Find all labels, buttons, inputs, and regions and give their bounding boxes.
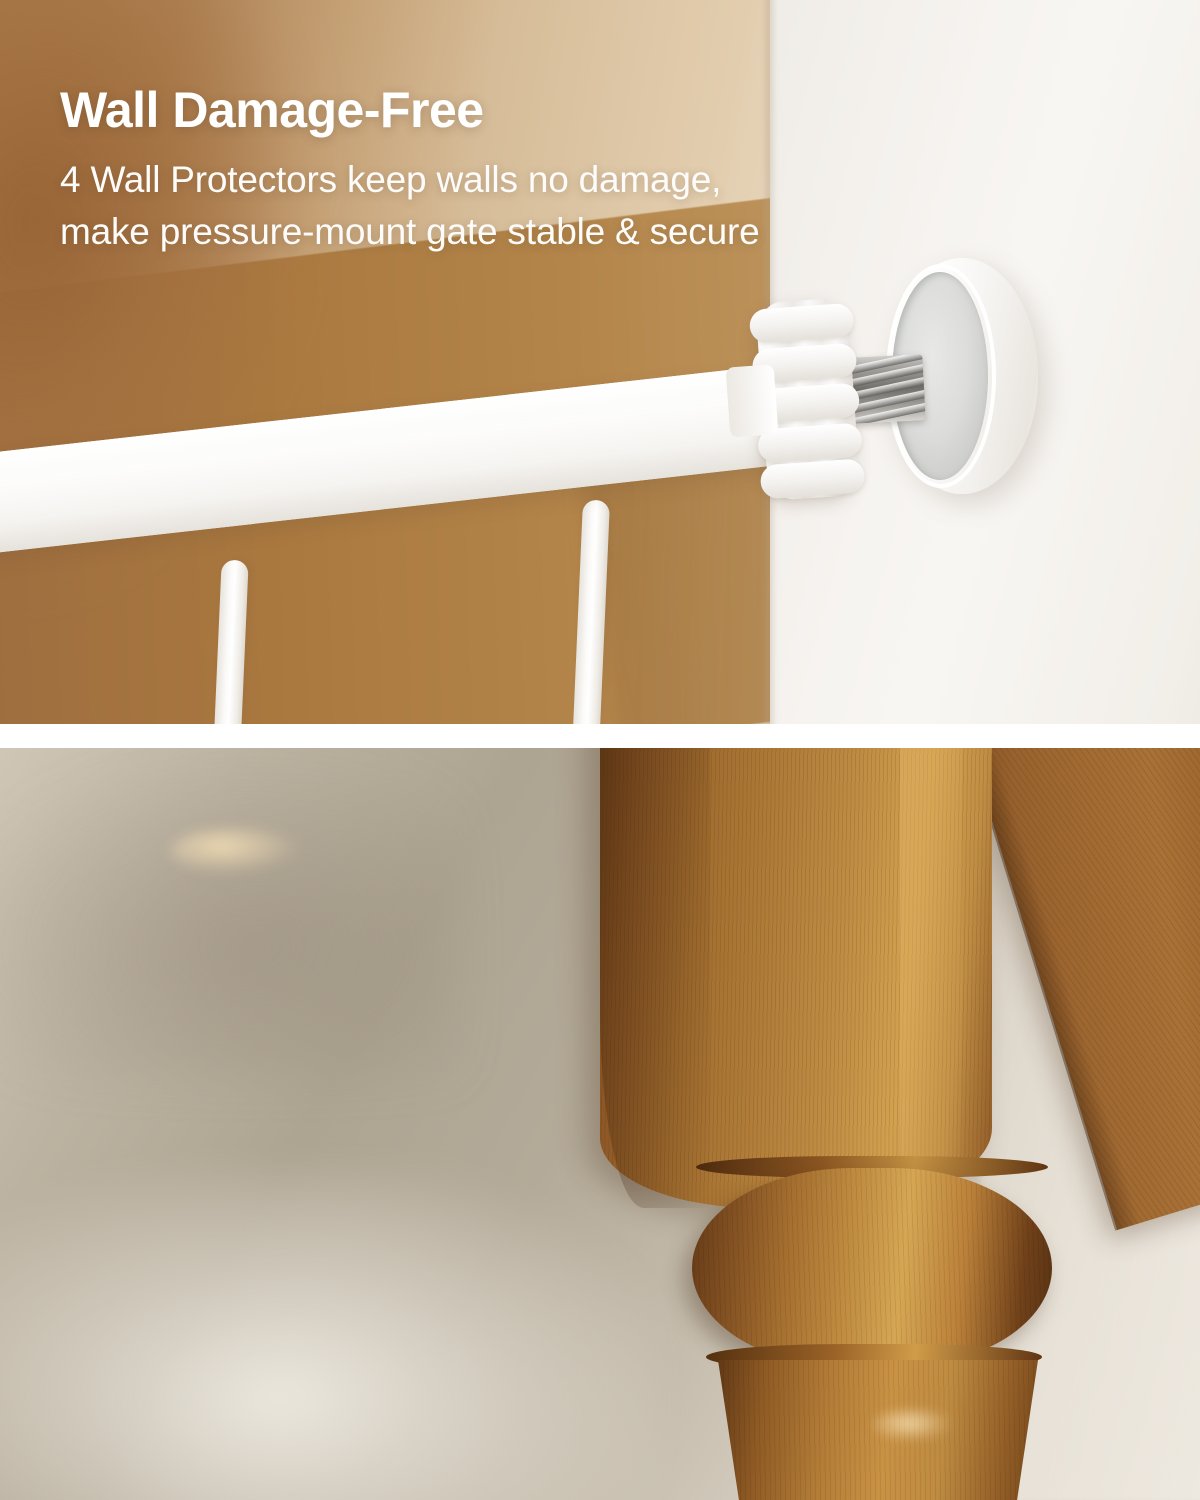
knurled-adjustment-knob xyxy=(755,297,861,501)
background-shadow xyxy=(0,748,460,1078)
panel-versatile-y-shape-design: Versatile Y Shape Design 2 Free Y-spindl… xyxy=(0,748,1200,1500)
knob-knurl-lobe xyxy=(749,303,855,344)
top-panel-headline: Wall Damage-Free xyxy=(60,80,790,140)
panel-divider xyxy=(0,724,1200,748)
panel-wall-damage-free: Wall Damage-Free 4 Wall Protectors keep … xyxy=(0,0,1200,724)
newel-post-base-highlight xyxy=(872,1408,954,1442)
knob-knurl-lobe xyxy=(760,458,866,499)
knob-collar xyxy=(726,364,779,437)
newel-post-bevel-highlight xyxy=(900,748,962,1208)
threaded-bolt xyxy=(844,354,925,424)
top-panel-text-block: Wall Damage-Free 4 Wall Protectors keep … xyxy=(60,80,790,258)
newel-post-column xyxy=(600,748,992,1208)
newel-post-shadow xyxy=(600,748,710,1208)
product-feature-poster: Wall Damage-Free 4 Wall Protectors keep … xyxy=(0,0,1200,1500)
newel-post-ball-section xyxy=(692,1168,1052,1368)
top-panel-subcopy: 4 Wall Protectors keep walls no damage, … xyxy=(60,154,790,258)
newel-post-ball-highlight xyxy=(170,828,300,874)
background-highlight xyxy=(0,1168,660,1500)
